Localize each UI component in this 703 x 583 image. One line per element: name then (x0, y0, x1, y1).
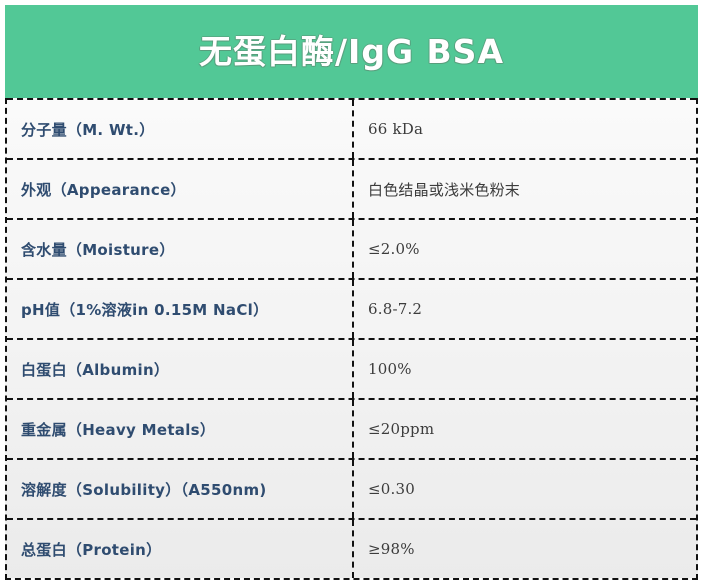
spec-value-molecular-weight: 66 kDa (354, 100, 696, 158)
table-row: 分子量（M. Wt.） 66 kDa (7, 98, 696, 158)
spec-value-ph: 6.8-7.2 (354, 280, 696, 338)
table-row: 总蛋白（Protein） ≥98% (7, 518, 696, 578)
specification-table: 分子量（M. Wt.） 66 kDa 外观（Appearance） 白色结晶或浅… (5, 98, 698, 580)
spec-value-heavy-metals: ≤20ppm (354, 400, 696, 458)
spec-value-solubility: ≤0.30 (354, 460, 696, 518)
sheet-header-banner: 无蛋白酶/IgG BSA (5, 5, 698, 98)
table-row: 外观（Appearance） 白色结晶或浅米色粉末 (7, 158, 696, 218)
spec-label-heavy-metals: 重金属（Heavy Metals） (7, 400, 354, 458)
table-row: 溶解度（Solubility）（A550nm) ≤0.30 (7, 458, 696, 518)
spec-label-solubility: 溶解度（Solubility）（A550nm) (7, 460, 354, 518)
page-title: 无蛋白酶/IgG BSA (199, 35, 504, 68)
spec-label-moisture: 含水量（Moisture） (7, 220, 354, 278)
table-row: 白蛋白（Albumin） 100% (7, 338, 696, 398)
spec-label-ph: pH值（1%溶液in 0.15M NaCl） (7, 280, 354, 338)
spec-value-appearance: 白色结晶或浅米色粉末 (354, 160, 696, 218)
product-spec-sheet: 无蛋白酶/IgG BSA 分子量（M. Wt.） 66 kDa 外观（Appea… (5, 5, 698, 580)
spec-value-moisture: ≤2.0% (354, 220, 696, 278)
table-row: 含水量（Moisture） ≤2.0% (7, 218, 696, 278)
spec-value-albumin: 100% (354, 340, 696, 398)
spec-label-molecular-weight: 分子量（M. Wt.） (7, 100, 354, 158)
spec-label-appearance: 外观（Appearance） (7, 160, 354, 218)
table-row: pH值（1%溶液in 0.15M NaCl） 6.8-7.2 (7, 278, 696, 338)
spec-label-albumin: 白蛋白（Albumin） (7, 340, 354, 398)
spec-label-protein: 总蛋白（Protein） (7, 520, 354, 578)
table-row: 重金属（Heavy Metals） ≤20ppm (7, 398, 696, 458)
spec-value-protein: ≥98% (354, 520, 696, 578)
